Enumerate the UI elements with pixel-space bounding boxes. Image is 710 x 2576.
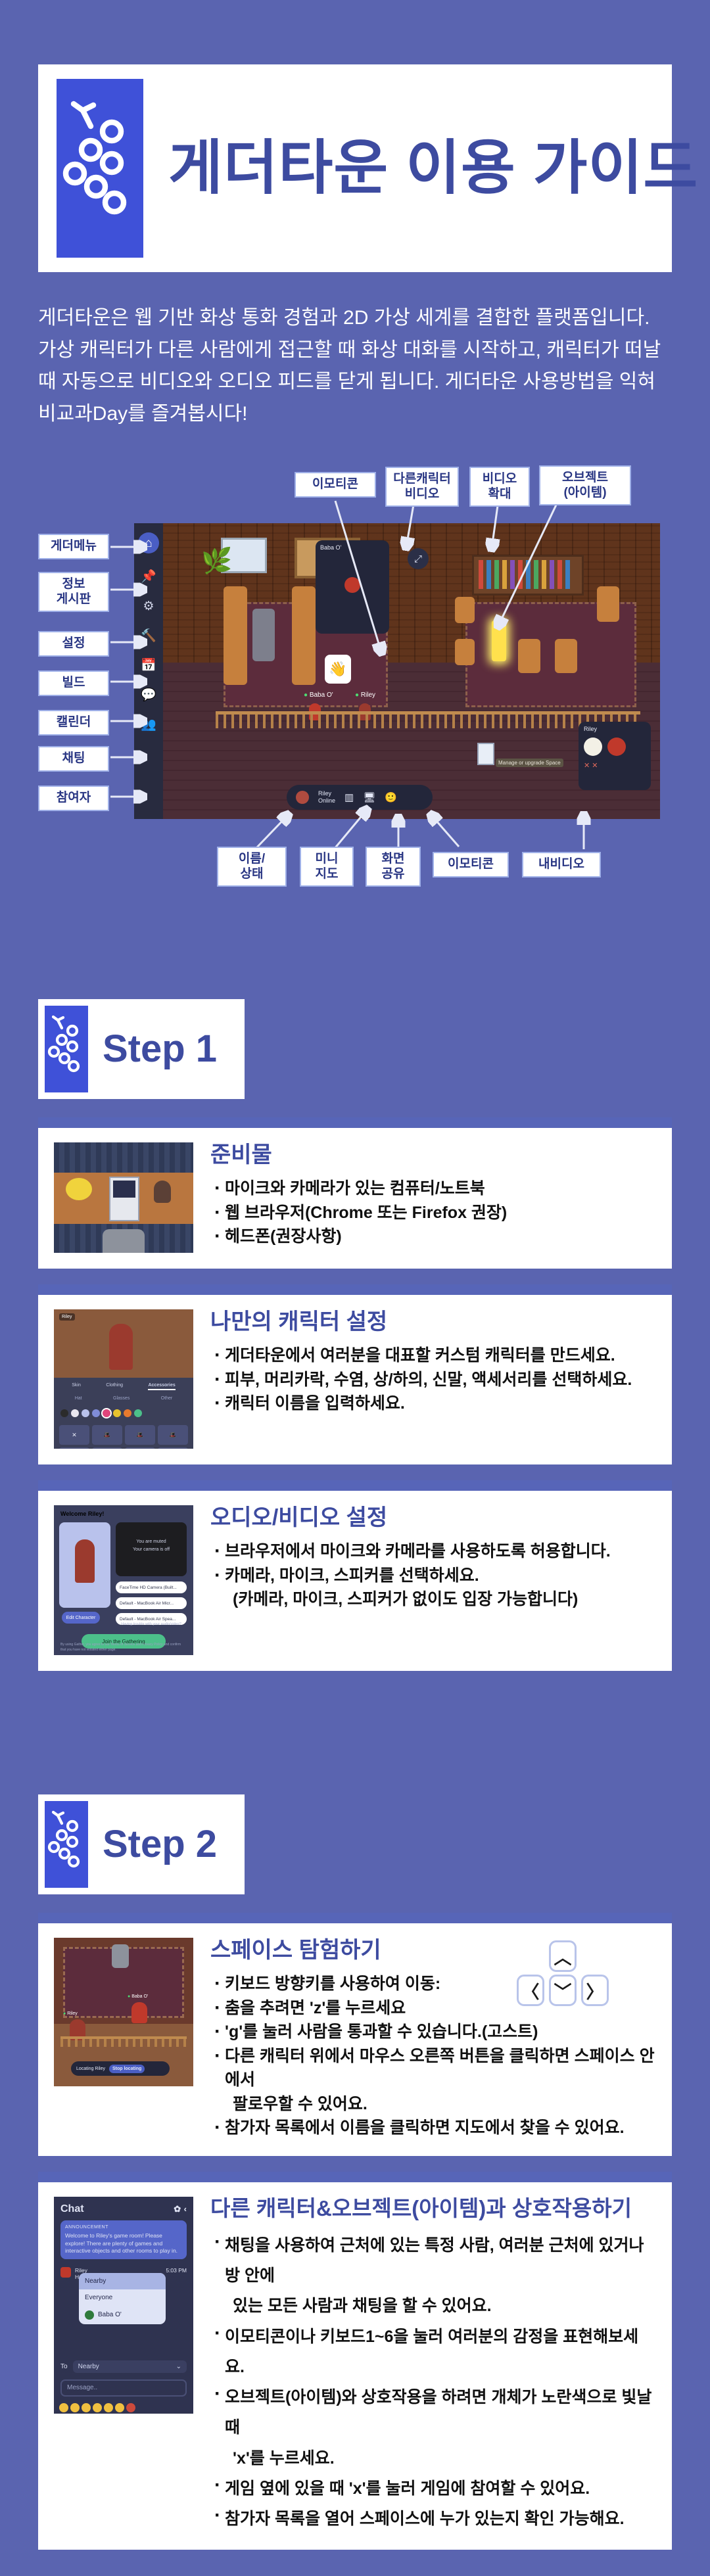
card-audio-video-setup: Welcome Riley! You are muted Your camera… (38, 1480, 672, 1671)
list-item: 웹 브라우저(Chrome 또는 Firefox 권장) (210, 1201, 656, 1225)
list-item: (카메라, 마이크, 스피커가 없이도 입장 가능합니다) (210, 1587, 656, 1612)
announcement-message: ANNOUNCEMENT Welcome to Riley's game roo… (60, 2220, 187, 2259)
grid-cell-none[interactable]: ✕ (59, 1425, 89, 1445)
subtab-glasses[interactable]: Glasses (113, 1396, 130, 1401)
stop-locating-button[interactable]: Stop locating (109, 2065, 145, 2073)
callout-settings: 설정 (38, 631, 109, 656)
card-body: 오디오/비디오 설정 브라우저에서 마이크와 카메라를 사용하도록 허용합니다.… (210, 1505, 656, 1655)
page-header: 게더타운 이용 가이드 (38, 64, 672, 272)
callout-object-item: 오브젝트 (아이템) (539, 465, 631, 505)
message-time: 5:03 PM (166, 2267, 187, 2274)
bullet-list: 게더타운에서 여러분을 대표할 커스텀 캐릭터를 만드세요. 피부, 머리카락,… (210, 1344, 656, 1416)
list-item: 게더타운에서 여러분을 대표할 커스텀 캐릭터를 만드세요. (210, 1344, 656, 1368)
microphone-select[interactable]: Default - MacBook Air Micr... (116, 1597, 187, 1609)
bullet-list: 채팅을 사용하여 근처에 있는 특정 사람, 여러분 근처에 있거나 방 안에 … (210, 2230, 656, 2535)
callout-info-board: 정보 게시판 (38, 572, 109, 612)
welcome-text: Welcome Riley! (60, 1510, 104, 1517)
close-icon[interactable] (126, 2403, 135, 2412)
locating-label: Locating Riley (76, 2067, 105, 2071)
emoticon-4-icon[interactable] (93, 2403, 102, 2412)
creator-subtabs[interactable]: Hat Glasses Other (59, 1396, 188, 1401)
list-item: 마이크와 카메라가 있는 컴퓨터/노트북 (210, 1177, 656, 1201)
card-title: 준비물 (210, 1142, 656, 1167)
muted-line-2: Your camera is off (121, 1546, 181, 1554)
avatar (85, 2310, 94, 2320)
subtab-hat[interactable]: Hat (75, 1396, 82, 1401)
list-item: 오브젝트(아이템)와 상호작용을 하려면 개체가 노란색으로 빛날 때 (210, 2382, 656, 2443)
step-2-heading: Step 2 (38, 1794, 245, 1894)
tab-clothing[interactable]: Clothing (106, 1383, 123, 1390)
microphone-select-value: Default - MacBook Air Micr... (120, 1601, 174, 1606)
card-body: 나만의 캐릭터 설정 게더타운에서 여러분을 대표할 커스텀 캐릭터를 만드세요… (210, 1309, 656, 1449)
spacer (0, 1671, 710, 1748)
chat-panel-header: Chat ✿ ‹ (60, 2203, 187, 2215)
avatar (60, 2267, 71, 2278)
card-interaction: Chat ✿ ‹ ANNOUNCEMENT Welcome to Riley's… (38, 2172, 672, 2550)
dropdown-option-user[interactable]: Baba O' (79, 2306, 166, 2324)
color-swatches[interactable] (60, 1409, 142, 1417)
list-item: 피부, 머리카락, 수염, 상/하의, 신말, 액세서리를 선택하세요. (210, 1368, 656, 1392)
guide-page: 게더타운 이용 가이드 게더타운은 웹 기반 화상 통화 경험과 2D 가상 세… (0, 64, 710, 2576)
list-item: 이모티콘이나 키보드1~6을 눌러 여러분의 감정을 표현해보세요. (210, 2322, 656, 2383)
card-body: 다른 캐릭터&오브젝트(아이템)과 상호작용하기 채팅을 사용하여 근처에 있는… (210, 2197, 656, 2534)
intro-paragraph: 게더타운은 웹 기반 화상 통화 경험과 2D 가상 세계를 결합한 플랫폼입니… (38, 302, 672, 430)
camera-preview: You are muted Your camera is off (116, 1522, 187, 1576)
spacer (0, 876, 710, 953)
emoticon-5-icon[interactable] (104, 2403, 113, 2412)
emoticon-6-icon[interactable] (115, 2403, 124, 2412)
collapse-icon[interactable]: ‹ (184, 2204, 187, 2214)
grid-cell[interactable]: 🎩 (92, 1447, 122, 1449)
card-character-setup: Riley Skin Clothing Accessories Hat Glas… (38, 1284, 672, 1464)
list-item: 캐릭터 이름을 입력하세요. (210, 1392, 656, 1416)
list-item: 'g'를 눌러 사람을 통과할 수 있습니다.(고스트) (210, 2020, 656, 2044)
avatar (109, 1324, 133, 1370)
creator-tabs[interactable]: Skin Clothing Accessories (59, 1383, 188, 1390)
card-body: 스페이스 탐험하기 ︿ 〈 ﹀ 〉 키보드 방향키를 사용하여 이동: 춤을 추… (210, 1938, 656, 2140)
callout-other-character-video: 다른캐릭터 비디오 (385, 467, 459, 507)
nametag: ● Riley (63, 2011, 78, 2016)
grid-cell[interactable]: 🎩 (92, 1425, 122, 1445)
grid-cell[interactable]: 🎩 (59, 1447, 89, 1449)
card-title: 다른 캐릭터&오브젝트(아이템)과 상호작용하기 (210, 2197, 656, 2221)
callout-participants: 참여자 (38, 785, 109, 810)
emoticon-3-icon[interactable] (82, 2403, 91, 2412)
list-item: 'x'를 누르세요. (210, 2443, 656, 2473)
card-body: 준비물 마이크와 카메라가 있는 컴퓨터/노트북 웹 브라우저(Chrome 또… (210, 1142, 656, 1253)
callout-gather-menu: 게더메뉴 (38, 534, 109, 559)
callout-my-video: 내비디오 (522, 852, 601, 877)
step-label: Step 1 (103, 1030, 217, 1068)
callout-video-expand: 비디오 확대 (469, 467, 530, 507)
item-grid[interactable]: ✕ 🎩 🎩 🎩 🎩 🎩 🎩 🎩 (59, 1425, 188, 1449)
grape-cluster-logo-icon (57, 79, 143, 258)
desk-setup-thumbnail (54, 1142, 193, 1253)
tab-accessories[interactable]: Accessories (148, 1383, 175, 1390)
space-explore-thumbnail: ● Baba O' ● Riley Locating Riley Stop lo… (54, 1938, 193, 2086)
list-item: 키보드 방향키를 사용하여 이동: (210, 1972, 656, 1996)
terms-footer: By using Gather, you agree to our Terms … (60, 1643, 187, 1652)
callout-chat: 채팅 (38, 746, 109, 771)
annotated-app-diagram: ⌂ 📌 ⚙ 🔨 📅 💬 👥 🌿 (38, 455, 672, 876)
list-item: 게임 옆에 있을 때 'x'를 눌러 게임에 참여할 수 있어요. (210, 2473, 656, 2504)
callout-emoticon-toolbar: 이모티콘 (433, 852, 509, 877)
chat-panel-title: Chat (60, 2203, 84, 2215)
nametag: ● Baba O' (128, 1994, 148, 1999)
thumb-player-name: Riley (59, 1313, 75, 1321)
grape-cluster-logo-icon (45, 1801, 88, 1888)
subtab-other[interactable]: Other (161, 1396, 173, 1401)
character-creator-thumbnail: Riley Skin Clothing Accessories Hat Glas… (54, 1309, 193, 1449)
step-label: Step 2 (103, 1825, 217, 1863)
list-item: 춤을 추려면 'z'를 누르세요 (210, 1996, 656, 2021)
tab-skin[interactable]: Skin (72, 1383, 81, 1390)
av-setup-thumbnail: Welcome Riley! You are muted Your camera… (54, 1505, 193, 1655)
list-item: 헤드폰(권장사항) (210, 1225, 656, 1249)
av-help-note[interactable]: Having trouble with your audio/video? (116, 1622, 187, 1626)
callout-calendar: 캘린더 (38, 710, 109, 735)
camera-select[interactable]: FaceTime HD Camera (Built... (116, 1581, 187, 1593)
card-preparations: 준비물 마이크와 카메라가 있는 컴퓨터/노트북 웹 브라우저(Chrome 또… (38, 1117, 672, 1269)
card-explore-space: ● Baba O' ● Riley Locating Riley Stop lo… (38, 1913, 672, 2156)
card-title: 오디오/비디오 설정 (210, 1505, 656, 1530)
bullet-list: 마이크와 카메라가 있는 컴퓨터/노트북 웹 브라우저(Chrome 또는 Fi… (210, 1177, 656, 1249)
list-item: 팔로우할 수 있어요. (210, 2092, 656, 2117)
page-title: 게더타운 이용 가이드 (168, 139, 698, 198)
callout-arrows (38, 455, 672, 876)
chat-panel-thumbnail: Chat ✿ ‹ ANNOUNCEMENT Welcome to Riley's… (54, 2197, 193, 2414)
to-label: To (60, 2363, 68, 2370)
recipient-dropdown[interactable]: Nearby Everyone Baba O' (79, 2273, 166, 2324)
list-item: 있는 모든 사람과 채팅을 할 수 있어요. (210, 2291, 656, 2321)
avatar-preview (59, 1522, 110, 1608)
list-item: 참가자 목록에서 이름을 클릭하면 지도에서 찾을 수 있어요. (210, 2116, 656, 2140)
to-select[interactable]: Nearby ⌄ (73, 2360, 187, 2373)
list-item: 카메라, 마이크, 스피커를 선택하세요. (210, 1564, 656, 1588)
callout-name-status: 이름/ 상태 (217, 847, 287, 887)
list-item: 참가자 목록을 열어 스페이스에 누가 있는지 확인 가능해요. (210, 2504, 656, 2534)
dropdown-option-everyone[interactable]: Everyone (79, 2289, 166, 2306)
edit-character-button[interactable]: Edit Character (62, 1612, 100, 1624)
locate-pill[interactable]: Locating Riley Stop locating (71, 2061, 170, 2076)
callout-emoticon: 이모티콘 (295, 472, 376, 497)
bullet-list: 키보드 방향키를 사용하여 이동: 춤을 추려면 'z'를 누르세요 'g'를 … (210, 1972, 656, 2140)
to-select-value: Nearby (78, 2363, 99, 2370)
bullet-list: 브라우저에서 마이크와 카메라를 사용하도록 허용합니다. 카메라, 마이크, … (210, 1539, 656, 1612)
emoticon-2-icon[interactable] (70, 2403, 80, 2412)
callout-screenshare: 화면 공유 (366, 847, 421, 887)
grid-cell-selected[interactable]: 🎩 (158, 1425, 188, 1445)
list-item: 브라우저에서 마이크와 카메라를 사용하도록 허용합니다. (210, 1539, 656, 1564)
callout-build: 빌드 (38, 670, 109, 695)
grid-cell[interactable]: 🎩 (125, 1425, 155, 1445)
step-1-heading: Step 1 (38, 999, 245, 1099)
speaker-select-value: Default - MacBook Air Spea... (120, 1617, 176, 1622)
list-item: 채팅을 사용하여 근처에 있는 특정 사람, 여러분 근처에 있거나 방 안에 (210, 2230, 656, 2291)
muted-line-1: You are muted (121, 1538, 181, 1546)
grid-cell[interactable]: 🎩 (125, 1447, 155, 1449)
grid-cell[interactable]: 🎩 (158, 1447, 188, 1449)
announcement-tag: ANNOUNCEMENT (65, 2224, 182, 2230)
announcement-text: Welcome to Riley's game room! Please exp… (65, 2232, 182, 2255)
emoticon-bar[interactable] (59, 2403, 135, 2412)
dropdown-option-nearby[interactable]: Nearby (79, 2273, 166, 2289)
chevron-down-icon: ⌄ (176, 2363, 181, 2370)
grape-cluster-logo-icon (45, 1006, 88, 1092)
arrow-up-key[interactable]: ︿ (549, 1940, 577, 1972)
card-title: 나만의 캐릭터 설정 (210, 1309, 656, 1334)
callout-minimap: 미니 지도 (300, 847, 354, 887)
emoticon-1-icon[interactable] (59, 2403, 68, 2412)
avatar (131, 2002, 147, 2023)
list-item: 다른 캐릭터 위에서 마우스 오른쪽 버튼을 클릭하면 스페이스 안에서 (210, 2044, 656, 2092)
camera-select-value: FaceTime HD Camera (Built... (120, 1585, 177, 1590)
message-input[interactable]: Message.. (60, 2379, 187, 2397)
to-row: To Nearby ⌄ (60, 2360, 187, 2373)
gear-icon[interactable]: ✿ (174, 2204, 181, 2214)
